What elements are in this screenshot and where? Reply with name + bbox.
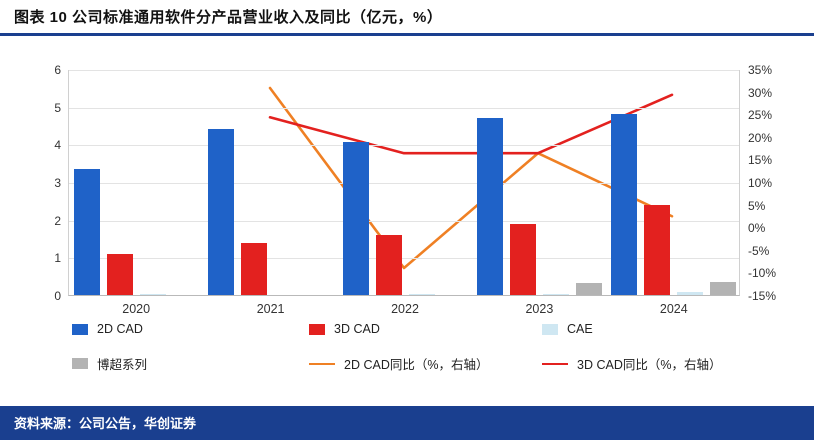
bar [677,292,703,295]
legend-label: 2D CAD [97,322,143,336]
y-axis-tick-right: -15% [748,289,796,303]
footer-bar: 资料来源：公司公告，华创证券 [0,406,814,440]
legend-label: 2D CAD同比（%，右轴） [344,354,488,373]
y-axis-tick-right: 30% [748,86,796,100]
y-axis-tick-left: 6 [21,63,61,77]
bar [376,235,402,295]
legend-item[interactable]: 3D CAD [309,322,380,336]
y-axis-tick-right: 35% [748,63,796,77]
bar [140,294,166,295]
page-title: 图表 10 公司标准通用软件分产品营业收入及同比（亿元，%） [14,6,442,27]
bar [611,114,637,295]
gridline [69,108,739,109]
y-axis-tick-right: 15% [748,153,796,167]
y-axis-tick-left: 0 [21,289,61,303]
bar [710,282,736,295]
bar [644,205,670,295]
gridline [69,183,739,184]
legend-bar-swatch-icon [309,324,325,335]
legend-line-swatch-icon [542,363,568,365]
legend-label: 3D CAD同比（%，右轴） [577,354,721,373]
bar [107,254,133,295]
y-axis-tick-left: 2 [21,214,61,228]
x-axis-tick: 2024 [660,302,688,316]
legend-bar-swatch-icon [72,324,88,335]
y-axis-tick-left: 5 [21,101,61,115]
legend-label: 3D CAD [334,322,380,336]
y-axis-tick-right: -5% [748,244,796,258]
bar [241,243,267,295]
legend-line-swatch-icon [309,363,335,365]
gridline [69,221,739,222]
y-axis-tick-left: 1 [21,251,61,265]
y-axis-tick-right: 5% [748,199,796,213]
source-note: 资料来源：公司公告，华创证券 [14,413,196,432]
legend-item[interactable]: CAE [542,322,593,336]
legend-item[interactable]: 博超系列 [72,354,147,373]
x-axis-tick: 2020 [122,302,150,316]
legend-item[interactable]: 3D CAD同比（%，右轴） [542,354,721,373]
bar [543,294,569,296]
bar [576,283,602,295]
gridline [69,70,739,71]
legend-item[interactable]: 2D CAD [72,322,143,336]
gridline [69,258,739,259]
title-bar: 图表 10 公司标准通用软件分产品营业收入及同比（亿元，%） [0,0,814,36]
legend-label: 博超系列 [97,354,147,373]
legend-item[interactable]: 2D CAD同比（%，右轴） [309,354,488,373]
bar [510,224,536,295]
y-axis-tick-left: 3 [21,176,61,190]
bar [74,169,100,295]
legend-bar-swatch-icon [72,358,88,369]
chart-legend: 2D CAD3D CADCAE博超系列2D CAD同比（%，右轴）3D CAD同… [72,322,772,384]
y-axis-tick-right: 0% [748,221,796,235]
y-axis-tick-right: 20% [748,131,796,145]
bar [409,294,435,295]
y-axis-tick-right: 25% [748,108,796,122]
legend-label: CAE [567,322,593,336]
bar [343,142,369,295]
legend-bar-swatch-icon [542,324,558,335]
x-axis-tick: 2022 [391,302,419,316]
x-axis-tick: 2021 [257,302,285,316]
plot-area: 0123456-15%-10%-5%0%5%10%15%20%25%30%35%… [68,70,740,296]
y-axis-tick-right: -10% [748,266,796,280]
chart-page: 图表 10 公司标准通用软件分产品营业收入及同比（亿元，%） 0123456-1… [0,0,814,440]
x-axis-tick: 2023 [525,302,553,316]
bar [477,118,503,295]
y-axis-tick-right: 10% [748,176,796,190]
gridline [69,145,739,146]
y-axis-tick-left: 4 [21,138,61,152]
bar [208,129,234,295]
